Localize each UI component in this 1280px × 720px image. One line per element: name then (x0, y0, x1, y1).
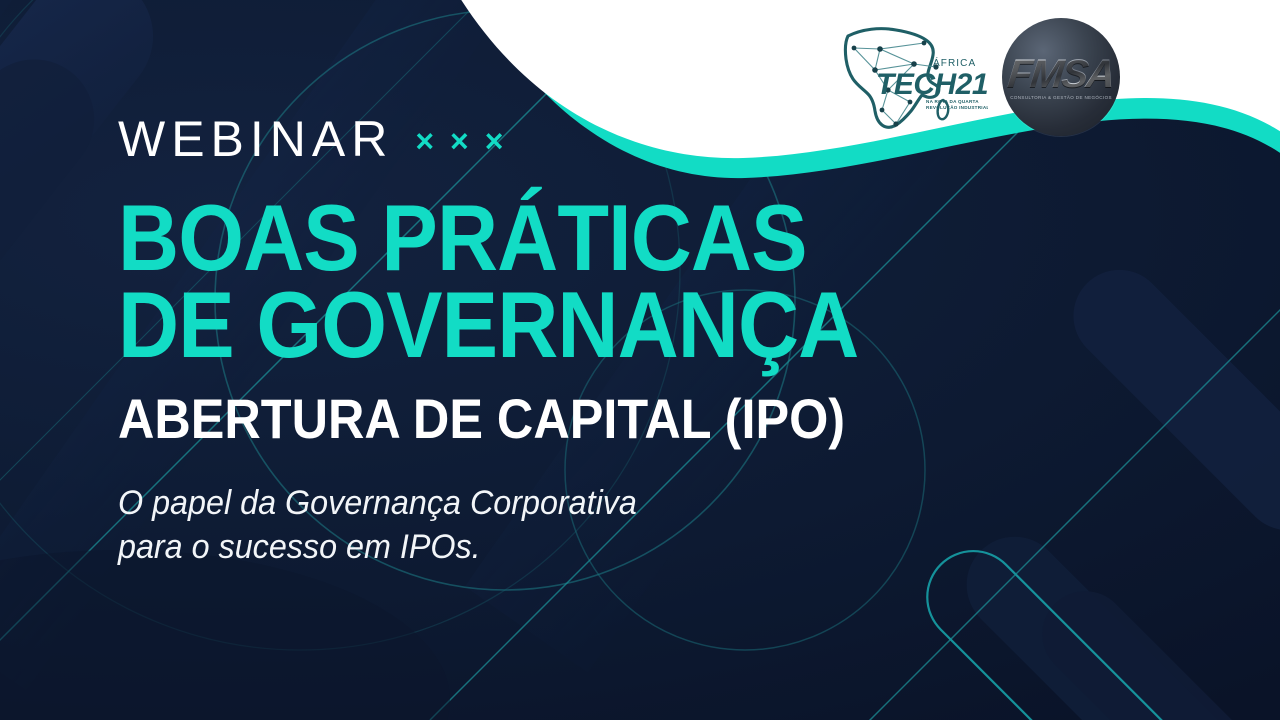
eyebrow-row: WEBINAR × × × (118, 106, 1068, 172)
tagline: O papel da Governança Corporativa para o… (118, 481, 1021, 569)
webinar-poster: ÁFRICA TECH21 NA ROTA DA QUARTA REVOLUÇÃ… (0, 0, 1280, 720)
headline: BOAS PRÁTICAS DE GOVERNANÇA (118, 194, 973, 369)
x-mark-icon: × (415, 125, 434, 157)
tech21-wordmark: TECH21 (876, 68, 988, 101)
webinar-label: WEBINAR (118, 114, 393, 164)
poster-content: WEBINAR × × × BOAS PRÁTICAS DE GOVERNANÇ… (118, 106, 1068, 569)
x-marks-group: × × × (415, 125, 503, 157)
subheadline: ABERTURA DE CAPITAL (IPO) (118, 391, 973, 447)
x-mark-icon: × (485, 125, 504, 157)
fmsa-wordmark: FMSA (1006, 54, 1116, 94)
x-mark-icon: × (450, 125, 469, 157)
fmsa-tagline: CONSULTORIA & GESTÃO DE NEGÓCIOS (1010, 95, 1112, 100)
tech21-tagline-line1: NA ROTA DA QUARTA (926, 99, 979, 104)
